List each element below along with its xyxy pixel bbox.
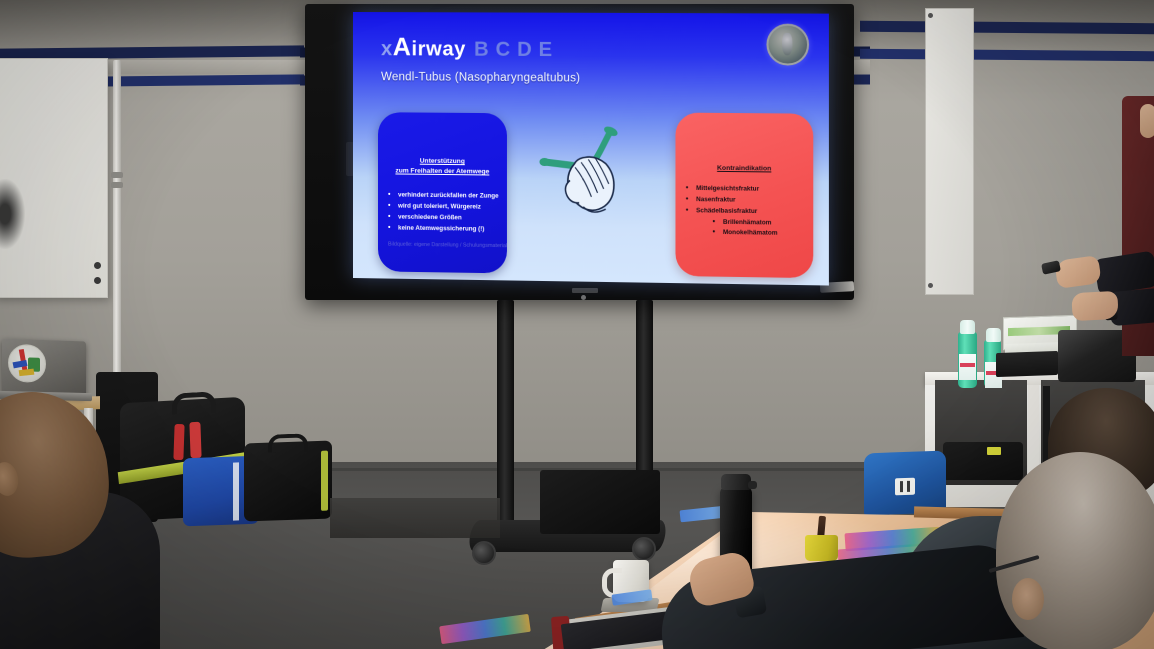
display-brand-logo xyxy=(572,288,598,293)
reflective-stripe xyxy=(321,451,328,511)
slide-blue-box: Unterstützung zum Freihalten der Atemweg… xyxy=(378,112,507,273)
attendee-front-right-ear xyxy=(1012,578,1044,620)
slide-title-airway: irway xyxy=(411,38,466,60)
bag-tag xyxy=(987,447,1001,455)
blue-box-heading-line2: zum Freihalten der Atemwege xyxy=(395,168,489,176)
red-box-bullets: Mittelgesichtsfraktur Nasenfraktur Schäd… xyxy=(686,184,807,241)
sticker-shape xyxy=(19,369,35,377)
slide-title: xAirwayB C D E xyxy=(381,33,553,63)
tv-stand-caster xyxy=(472,541,496,565)
blue-box-heading: Unterstützung zum Freihalten der Atemweg… xyxy=(378,156,507,178)
black-equipment-bag xyxy=(244,440,332,521)
organisation-emblem-icon xyxy=(766,24,809,66)
tv-stand-post xyxy=(497,300,514,522)
red-box-heading: Kontraindikation xyxy=(675,163,813,175)
panel-pin xyxy=(928,13,933,18)
chair-label xyxy=(895,478,915,496)
blue-box-footnote: Bildquelle: eigene Darstellung / Schulun… xyxy=(388,241,499,251)
yellow-cup xyxy=(805,535,838,561)
bottle-lid xyxy=(721,474,751,490)
display-screen: xAirwayB C D E Wendl-Tubus (Nasopharynge… xyxy=(353,12,829,286)
blue-box-heading-line1: Unterstützung xyxy=(420,158,465,165)
display-power-led xyxy=(581,295,586,300)
tube-hand-icon xyxy=(536,122,646,220)
classroom-photo-scene: xAirwayB C D E Wendl-Tubus (Nasopharynge… xyxy=(0,0,1154,649)
slide-title-x: x xyxy=(381,38,393,60)
attendee-front-right-head xyxy=(996,452,1154,649)
laptop-emblem-sticker xyxy=(8,344,46,383)
slide-red-box: Kontraindikation Mittelgesichtsfraktur N… xyxy=(675,113,813,279)
slide-title-bcde: B C D E xyxy=(474,39,553,62)
list-item: keine Atemwegssicherung (!) xyxy=(388,223,501,235)
panel-pin xyxy=(928,283,933,288)
pole-knob xyxy=(111,182,123,188)
bag-handle xyxy=(172,391,216,414)
slide-title-a: A xyxy=(393,33,412,61)
presenter-hand xyxy=(1071,291,1118,321)
slide: xAirwayB C D E Wendl-Tubus (Nasopharynge… xyxy=(353,12,829,286)
bottle-label xyxy=(959,354,976,380)
dark-floor-object xyxy=(330,498,500,538)
blue-box-bullets: verhindert zurückfallen der Zunge wird g… xyxy=(388,190,501,235)
red-equipment-handle xyxy=(189,422,201,458)
whiteboard xyxy=(0,58,108,298)
disinfectant-bottle xyxy=(958,332,977,388)
laptop-lid xyxy=(2,339,86,399)
bottle-latch xyxy=(748,481,757,489)
whiteboard-magnet xyxy=(94,262,101,269)
shelf-stored-bag xyxy=(943,442,1023,480)
bottle-pump-cap xyxy=(986,328,1001,342)
whiteboard-magnet xyxy=(94,277,101,284)
folded-black-cloth xyxy=(996,351,1058,377)
list-item: Monokelhämatom xyxy=(686,228,807,241)
bag-handle xyxy=(268,433,308,452)
bottle-pump-cap xyxy=(960,320,975,334)
presentation-display[interactable]: xAirwayB C D E Wendl-Tubus (Nasopharynge… xyxy=(300,2,860,302)
bag-white-stripe xyxy=(233,462,239,520)
label-stripe xyxy=(960,363,975,367)
presenter-upper-hand xyxy=(1140,104,1154,138)
pole-knob xyxy=(111,172,123,178)
slide-subtitle: Wendl-Tubus (Nasopharyngealtubus) xyxy=(381,71,580,84)
red-equipment-handle xyxy=(173,424,184,460)
hand-holding-tube-illustration xyxy=(536,122,646,220)
whiteboard-smudge xyxy=(0,179,25,249)
wall-panel xyxy=(925,8,974,295)
